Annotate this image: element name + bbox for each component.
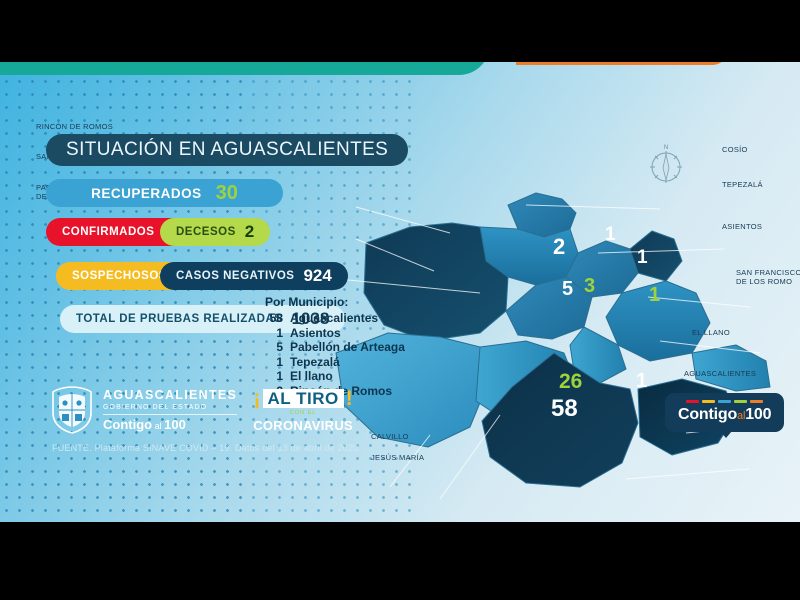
dash-green: [734, 400, 747, 403]
map-case-count: 1: [637, 247, 648, 269]
municipality-row: 1Tepezalá: [265, 355, 405, 370]
map-case-count: 1: [636, 370, 647, 393]
map-label: CALVILLO: [371, 432, 409, 441]
map-label: EL LLANO: [692, 328, 730, 337]
municipality-count: 1: [265, 326, 283, 341]
map-case-count: 58: [551, 395, 578, 423]
map-label: RINCÓN DE ROMOS: [36, 122, 113, 131]
map-case-count: 2: [553, 234, 565, 260]
contigo-num: 100: [745, 406, 771, 423]
region-east-band: [692, 345, 770, 391]
by-municipality-list: Por Municipio: 58Aguascalientes1Asientos…: [265, 295, 405, 398]
compass-rose-icon: N: [645, 140, 687, 193]
gov-state-name: AGUASCALIENTES: [103, 389, 237, 402]
stat-decesos: DECESOS 2: [160, 218, 270, 246]
dash-blue: [718, 400, 731, 403]
section-heading-label: SITUACIÓN EN AGUASCALIENTES: [66, 139, 388, 161]
stat-confirmados-label: CONFIRMADOS: [62, 226, 154, 238]
infographic-stage: N RINCÓN DE ROMOSSAN JOSÉ DE GRACIAPABEL…: [0, 0, 800, 600]
municipality-count: 5: [265, 340, 283, 355]
gov-slogan-num: 100: [164, 417, 186, 432]
municipality-count: 1: [265, 355, 283, 370]
map-label: ASIENTOS: [722, 222, 762, 231]
map-case-count: 1: [649, 284, 660, 307]
gov-slogan-sub: al: [152, 421, 164, 431]
gov-wordmark: AGUASCALIENTES GOBIERNO DEL ESTADO Conti…: [103, 389, 237, 431]
municipality-name: Tepezalá: [290, 355, 340, 370]
municipality-count: 1: [265, 369, 283, 384]
stat-sospechosos-label: SOSPECHOSOS: [72, 270, 167, 282]
contigo-text: Contigoal100: [678, 406, 771, 424]
municipality-row: 1El llano: [265, 369, 405, 384]
svg-text:N: N: [664, 145, 668, 151]
altiro-campaign-logo: ¡ AL TIRO ! CON EL CORONAVIRUS: [253, 388, 353, 432]
altiro-coronavirus: CORONAVIRUS: [253, 419, 353, 432]
municipality-name: El llano: [290, 369, 333, 384]
stat-recuperados: RECUPERADOS 30: [46, 179, 283, 207]
altiro-bracket-right: !: [346, 388, 353, 409]
stat-casos-negativos: CASOS NEGATIVOS 924: [160, 262, 348, 290]
letterbox-bottom: [0, 522, 800, 600]
map-label: SAN FRANCISCO: [736, 268, 800, 277]
source-note: FUENTE. Plataforma SINAVE COVID – 19. Da…: [52, 443, 358, 453]
map-case-count: 26: [559, 370, 582, 394]
stat-total-pruebas-label: TOTAL DE PRUEBAS REALIZADAS: [76, 313, 282, 325]
stat-casos-negativos-label: CASOS NEGATIVOS: [176, 270, 294, 282]
municipality-name: Pabellón de Arteaga: [290, 340, 405, 355]
altiro-top-row: ¡ AL TIRO !: [253, 388, 353, 409]
state-coat-of-arms-icon: [50, 385, 94, 435]
map-case-count: 1: [605, 224, 616, 246]
contigo-sub: al: [737, 410, 745, 422]
map-label: TEPEZALÁ: [722, 180, 763, 189]
gov-subtitle: GOBIERNO DEL ESTADO: [103, 404, 237, 411]
dash-orange: [750, 400, 763, 403]
contigo-al-100-badge: Contigoal100: [665, 393, 784, 432]
municipality-name: Asientos: [290, 326, 341, 341]
stat-decesos-value: 2: [245, 222, 254, 242]
letterbox-top: [0, 0, 800, 62]
municipality-name: Aguascalientes: [290, 311, 378, 326]
gov-divider: [103, 414, 237, 415]
section-heading: SITUACIÓN EN AGUASCALIENTES: [46, 134, 408, 166]
stat-casos-negativos-value: 924: [303, 266, 331, 286]
map-case-count: 5: [562, 278, 573, 301]
dash-red: [686, 400, 699, 403]
municipality-row: 58Aguascalientes: [265, 311, 405, 326]
map-case-count: 3: [584, 275, 595, 298]
dash-yellow: [702, 400, 715, 403]
contigo-dashes: [678, 400, 771, 403]
altiro-headline: AL TIRO: [263, 389, 344, 408]
gov-slogan: Contigo al 100: [103, 418, 237, 431]
map-label: DE LOS ROMO: [736, 277, 792, 286]
altiro-bracket-left: ¡: [254, 388, 261, 409]
stat-decesos-label: DECESOS: [176, 226, 236, 238]
contigo-main: Contigo: [678, 406, 737, 423]
map-label: COSÍO: [722, 145, 748, 154]
municipality-count: 58: [265, 311, 283, 326]
municipality-row: 1Asientos: [265, 326, 405, 341]
gov-slogan-main: Contigo: [103, 417, 152, 432]
stat-recuperados-label: RECUPERADOS: [91, 186, 202, 201]
footer-logos: AGUASCALIENTES GOBIERNO DEL ESTADO Conti…: [50, 385, 353, 435]
by-municipality-heading: Por Municipio:: [265, 295, 405, 309]
dot-texture-dense: [0, 62, 250, 522]
map-label: JESÚS MARÍA: [371, 453, 424, 462]
stat-recuperados-value: 30: [216, 182, 238, 205]
map-label: AGUASCALIENTES: [684, 369, 756, 378]
altiro-connector: CON EL: [253, 411, 353, 417]
municipality-row: 5Pabellón de Arteaga: [265, 340, 405, 355]
